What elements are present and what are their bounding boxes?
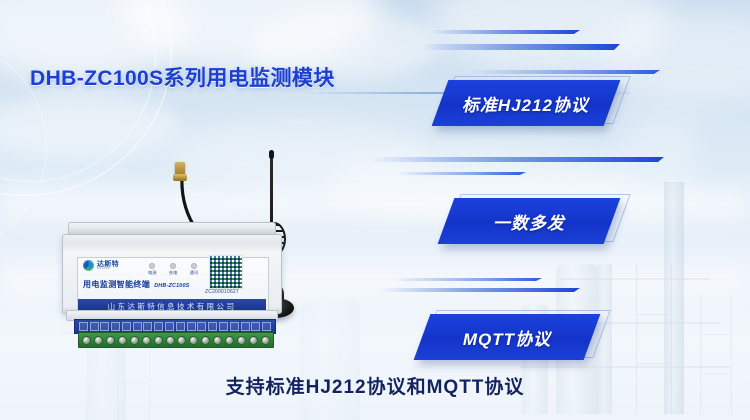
din-rail-device: 达斯特 DUSTER 电源 充电 通讯 用电监测智能 [62, 222, 280, 342]
device-model-line: 用电监测智能终端 DHB-ZC100S [83, 279, 189, 290]
bottom-caption: 支持标准HJ212协议和MQTT协议 [0, 372, 750, 399]
terminal-screw [106, 336, 115, 345]
terminal-screw [118, 336, 127, 345]
screw-terminal-block [78, 332, 274, 348]
terminal-screw [249, 336, 258, 345]
indicator-power-label: 电源 [148, 270, 157, 276]
terminal-screw [261, 336, 270, 345]
antenna-tip [269, 150, 274, 159]
terminal-screw [201, 336, 210, 345]
brand-name-en: DUSTER [97, 268, 119, 271]
qr-code [209, 255, 243, 289]
indicator-comm-label: 通讯 [190, 270, 199, 276]
terminal-screw [213, 336, 222, 345]
indicator-charge: 充电 [169, 263, 178, 276]
indicator-charge-label: 充电 [169, 270, 178, 276]
terminal-screw [189, 336, 198, 345]
banner-multi-send-label: 一数多发 [493, 209, 565, 234]
banner-hj212-label: 标准HJ212协议 [462, 91, 589, 116]
power-led-icon [149, 263, 155, 269]
terminal-screw [237, 336, 246, 345]
device-serial-number: ZC200010627 [205, 289, 239, 295]
terminal-screw [142, 336, 151, 345]
banner-mqtt-label: MQTT协议 [463, 325, 551, 350]
banner-hj212[interactable]: 标准HJ212协议 [432, 80, 621, 126]
brand-logo-icon [83, 260, 94, 271]
terminal-screw [225, 336, 234, 345]
promo-banner: DHB-ZC100S系列用电监测模块 标准HJ212协议 一数多发 MQTT协议 [0, 0, 750, 420]
terminal-screw [166, 336, 175, 345]
terminal-screw [82, 336, 91, 345]
charge-led-icon [170, 263, 176, 269]
page-title: DHB-ZC100S系列用电监测模块 [30, 62, 335, 92]
terminal-screw [94, 336, 103, 345]
sma-nut [173, 174, 187, 181]
terminal-screw [154, 336, 163, 345]
brand-logo: 达斯特 DUSTER [83, 260, 119, 271]
comm-led-icon [191, 263, 197, 269]
terminal-screw [130, 336, 139, 345]
device-model-code: DHB-ZC100S [154, 283, 189, 289]
terminal-screw [177, 336, 186, 345]
indicator-leds: 电源 充电 通讯 [148, 263, 198, 276]
indicator-power: 电源 [148, 263, 157, 276]
indicator-comm: 通讯 [190, 263, 199, 276]
device-model-cn: 用电监测智能终端 [83, 279, 150, 290]
banner-multi-send[interactable]: 一数多发 [438, 198, 621, 244]
device-housing: 达斯特 DUSTER 电源 充电 通讯 用电监测智能 [62, 234, 282, 314]
banner-mqtt[interactable]: MQTT协议 [414, 314, 601, 360]
